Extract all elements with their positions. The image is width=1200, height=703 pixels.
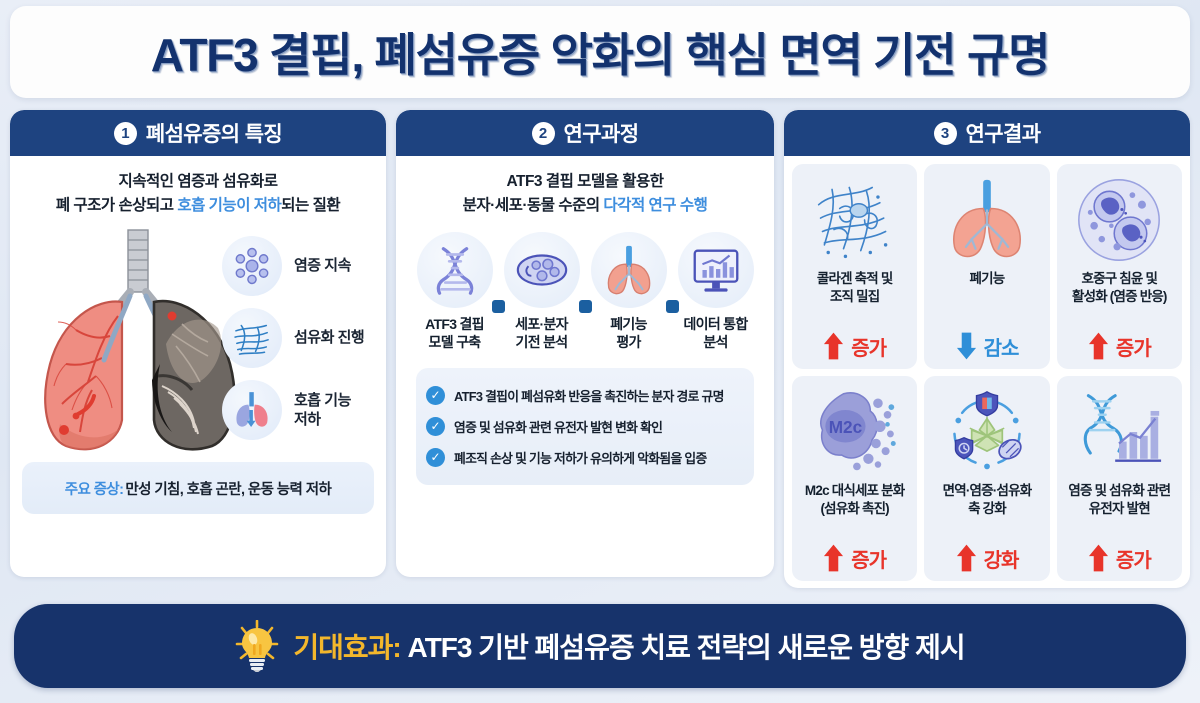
- checklist-text: ATF3 결핍이 폐섬유화 반응을 촉진하는 분자 경로 규명: [454, 386, 724, 405]
- diseased-healthy-lung-illustration: [26, 224, 250, 454]
- lungs-icon: [943, 172, 1031, 268]
- panel-2-lead-line2: 분자·세포·동물 수준의 다각적 연구 수행: [406, 194, 764, 218]
- result-card-immune-axis: 면역·염증·섬유화 축 강화 강화: [924, 376, 1049, 581]
- panel-2-number: 2: [532, 122, 555, 145]
- result-card-gene-expression: 염증 및 섬유화 관련 유전자 발현 증가: [1057, 376, 1182, 581]
- panel-3-title: 연구결과: [966, 118, 1041, 148]
- arrow-up-icon: [823, 543, 844, 573]
- lead2-text-a: 분자·세포·동물 수준의: [463, 197, 604, 214]
- result-card-m2c: M2c M2c 대식세포 분화: [792, 376, 917, 581]
- result-label-gene-expression: 염증 및 섬유화 관련 유전자 발현: [1068, 482, 1170, 543]
- feature-label-lung-function: 호흡 기능 저하: [294, 391, 351, 430]
- panel-1-lead-line2: 폐 구조가 손상되고 호흡 기능이 저하되는 질환: [22, 194, 374, 218]
- result-label-lung-function: 폐기능: [970, 270, 1005, 331]
- feature-label-fibrosis: 섬유화 진행: [294, 328, 364, 348]
- panel-1-header: 1 폐섬유증의 특징: [10, 110, 386, 156]
- neutrophil-cells-icon: [1075, 172, 1163, 268]
- panel-2-lead-line1: ATF3 결핍 모델을 활용한: [406, 170, 764, 194]
- feature-item-lung-function: 호흡 기능 저하: [222, 374, 372, 446]
- immune-axis-cycle-icon: [943, 384, 1031, 480]
- fibrosis-fibers-icon: [222, 308, 282, 368]
- arrow-up-icon: [1088, 331, 1109, 361]
- result-stat-m2c: 증가: [823, 543, 886, 573]
- findings-checklist: ✓ ATF3 결핍이 폐섬유화 반응을 촉진하는 분자 경로 규명 ✓ 염증 및…: [416, 368, 754, 485]
- result-card-lung-function: 폐기능 감소: [924, 164, 1049, 369]
- expected-effect-text: 기대효과: ATF3 기반 폐섬유증 치료 전략의 새로운 방향 제시: [293, 626, 964, 666]
- expected-effect-key: 기대효과:: [293, 632, 400, 663]
- result-stat-word: 감소: [984, 332, 1019, 361]
- result-stat-word: 강화: [984, 544, 1019, 573]
- result-label-immune-axis: 면역·염증·섬유화 축 강화: [943, 482, 1032, 543]
- result-stat-collagen: 증가: [823, 331, 886, 361]
- lung-comparison-area: 염증 지속: [22, 224, 374, 456]
- check-icon: ✓: [426, 417, 445, 436]
- panel-1-title: 폐섬유증의 특징: [146, 118, 282, 148]
- panel-2-header: 2 연구과정: [396, 110, 774, 156]
- feature-item-fibrosis: 섬유화 진행: [222, 302, 372, 374]
- arrow-up-icon: [1088, 543, 1109, 573]
- title-card: ATF3 결핍, 폐섬유증 악화의 핵심 면역 기전 규명: [10, 6, 1190, 98]
- lightbulb-icon: [235, 620, 279, 672]
- feature-icon-list: 염증 지속: [222, 230, 372, 446]
- panel-1-lead-line1: 지속적인 염증과 섬유화로: [22, 170, 374, 194]
- arrow-up-icon: [823, 331, 844, 361]
- panel-2-title: 연구과정: [564, 118, 639, 148]
- result-stat-lung-function: 감소: [956, 331, 1019, 361]
- result-stat-word: 증가: [1116, 544, 1151, 573]
- result-stat-neutrophil: 증가: [1088, 331, 1151, 361]
- lungs-icon: [591, 232, 667, 308]
- feature-item-inflammation: 염증 지속: [222, 230, 372, 302]
- dna-helix-icon: [417, 232, 493, 308]
- result-label-collagen: 콜라겐 축적 및 조직 밀집: [817, 270, 893, 331]
- lead-text-b: 되는 질환: [281, 197, 340, 214]
- panel-results: 3 연구결과: [784, 110, 1190, 588]
- panel-method: 2 연구과정 ATF3 결핍 모델을 활용한 분자·세포·동물 수준의 다각적 …: [396, 110, 774, 577]
- m2c-badge-text: M2c: [828, 417, 862, 437]
- result-stat-word: 증가: [851, 332, 886, 361]
- arrow-down-icon: [956, 331, 977, 361]
- panel-1-lead: 지속적인 염증과 섬유화로 폐 구조가 손상되고 호흡 기능이 저하되는 질환: [22, 170, 374, 218]
- result-label-neutrophil: 호중구 침윤 및 활성화 (염증 반응): [1072, 270, 1167, 331]
- panel-3-header: 3 연구결과: [784, 110, 1190, 156]
- panel-3-number: 3: [934, 122, 957, 145]
- checklist-item: ✓ 폐조직 손상 및 기능 저하가 유의하게 악화됨을 입증: [426, 442, 744, 473]
- page-title: ATF3 결핍, 폐섬유증 악화의 핵심 면역 기전 규명: [151, 19, 1049, 85]
- result-card-neutrophil: 호중구 침윤 및 활성화 (염증 반응) 증가: [1057, 164, 1182, 369]
- flow-step-model: ATF3 결핍 모델 구축: [415, 232, 495, 352]
- m2c-macrophage-icon: M2c: [811, 384, 899, 480]
- checklist-text: 폐조직 손상 및 기능 저하가 유의하게 악화됨을 입증: [454, 448, 707, 467]
- results-grid: 콜라겐 축적 및 조직 밀집 증가: [784, 156, 1190, 588]
- collagen-fibers-icon: [811, 172, 899, 268]
- inflammation-cells-icon: [222, 236, 282, 296]
- arrow-up-icon: [956, 543, 977, 573]
- checklist-item: ✓ 염증 및 섬유화 관련 유전자 발현 변화 확인: [426, 411, 744, 442]
- panel-1-number: 1: [114, 122, 137, 145]
- flow-label-data: 데이터 통합 분석: [676, 316, 756, 352]
- checklist-item: ✓ ATF3 결핍이 폐섬유화 반응을 촉진하는 분자 경로 규명: [426, 380, 744, 411]
- flow-label-model: ATF3 결핍 모델 구축: [415, 316, 495, 352]
- result-stat-immune-axis: 강화: [956, 543, 1019, 573]
- gene-expression-chart-icon: [1075, 384, 1163, 480]
- panel-2-lead: ATF3 결핍 모델을 활용한 분자·세포·동물 수준의 다각적 연구 수행: [406, 170, 764, 218]
- flow-step-cell: 세포·분자 기전 분석: [502, 232, 582, 352]
- check-icon: ✓: [426, 386, 445, 405]
- research-flow: ATF3 결핍 모델 구축 세포·분자: [406, 232, 764, 352]
- flow-label-lung: 폐기능 평가: [589, 316, 669, 352]
- flow-step-lung: 폐기능 평가: [589, 232, 669, 352]
- lung-function-decline-icon: [222, 380, 282, 440]
- expected-effect-banner: 기대효과: ATF3 기반 폐섬유증 치료 전략의 새로운 방향 제시: [14, 604, 1186, 688]
- result-stat-word: 증가: [851, 544, 886, 573]
- lead2-highlight: 다각적 연구 수행: [603, 197, 707, 214]
- cell-nucleus-icon: [504, 232, 580, 308]
- symptom-bar: 주요 증상: 만성 기침, 호흡 곤란, 운동 능력 저하: [22, 462, 374, 514]
- flow-step-data: 데이터 통합 분석: [676, 232, 756, 352]
- result-stat-gene-expression: 증가: [1088, 543, 1151, 573]
- flow-label-cell: 세포·분자 기전 분석: [502, 316, 582, 352]
- result-card-collagen: 콜라겐 축적 및 조직 밀집 증가: [792, 164, 917, 369]
- panel-features: 1 폐섬유증의 특징 지속적인 염증과 섬유화로 폐 구조가 손상되고 호흡 기…: [10, 110, 386, 577]
- symptom-key: 주요 증상:: [65, 478, 124, 499]
- result-label-m2c: M2c 대식세포 분화 (섬유화 촉진): [805, 482, 904, 543]
- lead-text-a: 폐 구조가 손상되고: [56, 197, 178, 214]
- check-icon: ✓: [426, 448, 445, 467]
- panels-container: 1 폐섬유증의 특징 지속적인 염증과 섬유화로 폐 구조가 손상되고 호흡 기…: [10, 110, 1190, 588]
- checklist-text: 염증 및 섬유화 관련 유전자 발현 변화 확인: [454, 417, 662, 436]
- result-stat-word: 증가: [1116, 332, 1151, 361]
- symptom-value: 만성 기침, 호흡 곤란, 운동 능력 저하: [125, 478, 331, 499]
- expected-effect-value: ATF3 기반 폐섬유증 치료 전략의 새로운 방향 제시: [401, 632, 965, 663]
- lead-highlight: 호흡 기능이 저하: [177, 197, 281, 214]
- data-monitor-chart-icon: [678, 232, 754, 308]
- feature-label-inflammation: 염증 지속: [294, 256, 351, 276]
